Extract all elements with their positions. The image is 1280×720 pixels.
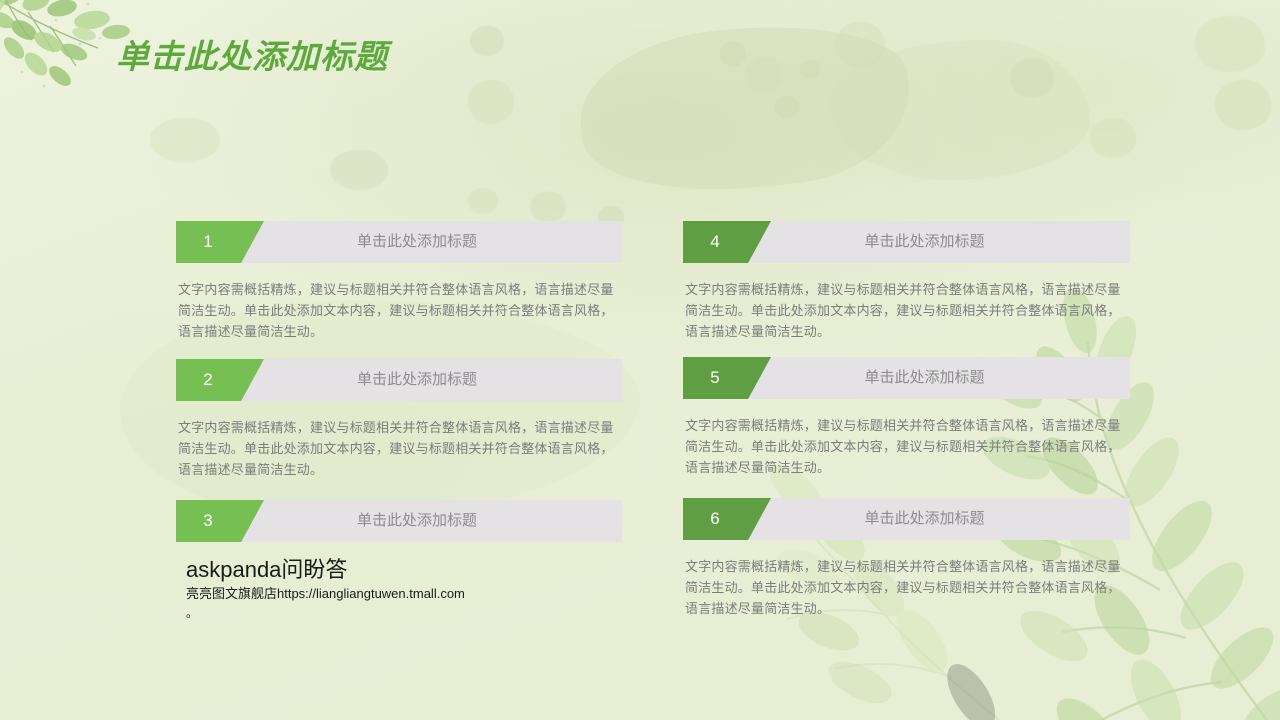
watercolor-splatter bbox=[1010, 58, 1054, 98]
watercolor-splatter bbox=[720, 42, 746, 66]
watermark-trailing: 。 bbox=[186, 604, 622, 622]
watercolor-splatter bbox=[1090, 118, 1136, 158]
watercolor-splatter bbox=[468, 80, 514, 124]
card-header-bar[interactable]: 4 单击此处添加标题 bbox=[683, 221, 1130, 263]
card-header-bar[interactable]: 2 单击此处添加标题 bbox=[176, 359, 622, 401]
card-title[interactable]: 单击此处添加标题 bbox=[683, 357, 1130, 399]
content-card-4: 4 单击此处添加标题 文字内容需概括精炼，建议与标题相关并符合整体语言风格，语言… bbox=[683, 221, 1130, 342]
card-body-text[interactable]: 文字内容需概括精炼，建议与标题相关并符合整体语言风格，语言描述尽量简洁生动。单击… bbox=[683, 279, 1130, 342]
page-title: 单击此处添加标题 bbox=[116, 30, 388, 78]
watercolor-splatter bbox=[150, 118, 220, 162]
content-card-6: 6 单击此处添加标题 文字内容需概括精炼，建议与标题相关并符合整体语言风格，语言… bbox=[683, 498, 1130, 619]
card-header-bar[interactable]: 6 单击此处添加标题 bbox=[683, 498, 1130, 540]
card-header-bar[interactable]: 3 单击此处添加标题 bbox=[176, 500, 622, 542]
watermark-block: askpanda问盼答 亮亮图文旗舰店https://liangliangtuw… bbox=[176, 556, 622, 622]
watercolor-splatter bbox=[330, 150, 388, 190]
card-title[interactable]: 单击此处添加标题 bbox=[176, 359, 622, 401]
watercolor-splatter bbox=[470, 26, 504, 56]
card-body-text[interactable]: 文字内容需概括精炼，建议与标题相关并符合整体语言风格，语言描述尽量简洁生动。单击… bbox=[683, 556, 1130, 619]
content-card-2: 2 单击此处添加标题 文字内容需概括精炼，建议与标题相关并符合整体语言风格，语言… bbox=[176, 359, 622, 480]
card-title[interactable]: 单击此处添加标题 bbox=[176, 500, 622, 542]
watermark-brand: askpanda问盼答 bbox=[186, 556, 622, 584]
watercolor-splatter bbox=[800, 60, 820, 78]
content-card-1: 1 单击此处添加标题 文字内容需概括精炼，建议与标题相关并符合整体语言风格，语言… bbox=[176, 221, 622, 342]
card-body-text[interactable]: 文字内容需概括精炼，建议与标题相关并符合整体语言风格，语言描述尽量简洁生动。单击… bbox=[683, 415, 1130, 478]
card-title[interactable]: 单击此处添加标题 bbox=[683, 221, 1130, 263]
watercolor-splatter bbox=[1215, 80, 1271, 130]
card-body-text[interactable]: 文字内容需概括精炼，建议与标题相关并符合整体语言风格，语言描述尽量简洁生动。单击… bbox=[176, 417, 622, 480]
card-title[interactable]: 单击此处添加标题 bbox=[683, 498, 1130, 540]
watercolor-splatter bbox=[530, 192, 566, 222]
card-body-text[interactable]: 文字内容需概括精炼，建议与标题相关并符合整体语言风格，语言描述尽量简洁生动。单击… bbox=[176, 279, 622, 342]
watercolor-splatter bbox=[835, 22, 885, 68]
slide-canvas: 单击此处添加标题 1 单击此处添加标题 文字内容需概括精炼，建议与标题相关并符合… bbox=[0, 0, 1280, 720]
content-card-5: 5 单击此处添加标题 文字内容需概括精炼，建议与标题相关并符合整体语言风格，语言… bbox=[683, 357, 1130, 478]
card-header-bar[interactable]: 1 单击此处添加标题 bbox=[176, 221, 622, 263]
card-header-bar[interactable]: 5 单击此处添加标题 bbox=[683, 357, 1130, 399]
content-card-3: 3 单击此处添加标题 askpanda问盼答 亮亮图文旗舰店https://li… bbox=[176, 500, 622, 622]
watercolor-splatter bbox=[745, 58, 783, 92]
card-title[interactable]: 单击此处添加标题 bbox=[176, 221, 622, 263]
watercolor-splatter bbox=[1195, 16, 1265, 72]
watercolor-splatter bbox=[775, 96, 799, 118]
watermark-shop-url: 亮亮图文旗舰店https://liangliangtuwen.tmall.com bbox=[186, 584, 622, 604]
watercolor-splatter bbox=[468, 188, 498, 214]
